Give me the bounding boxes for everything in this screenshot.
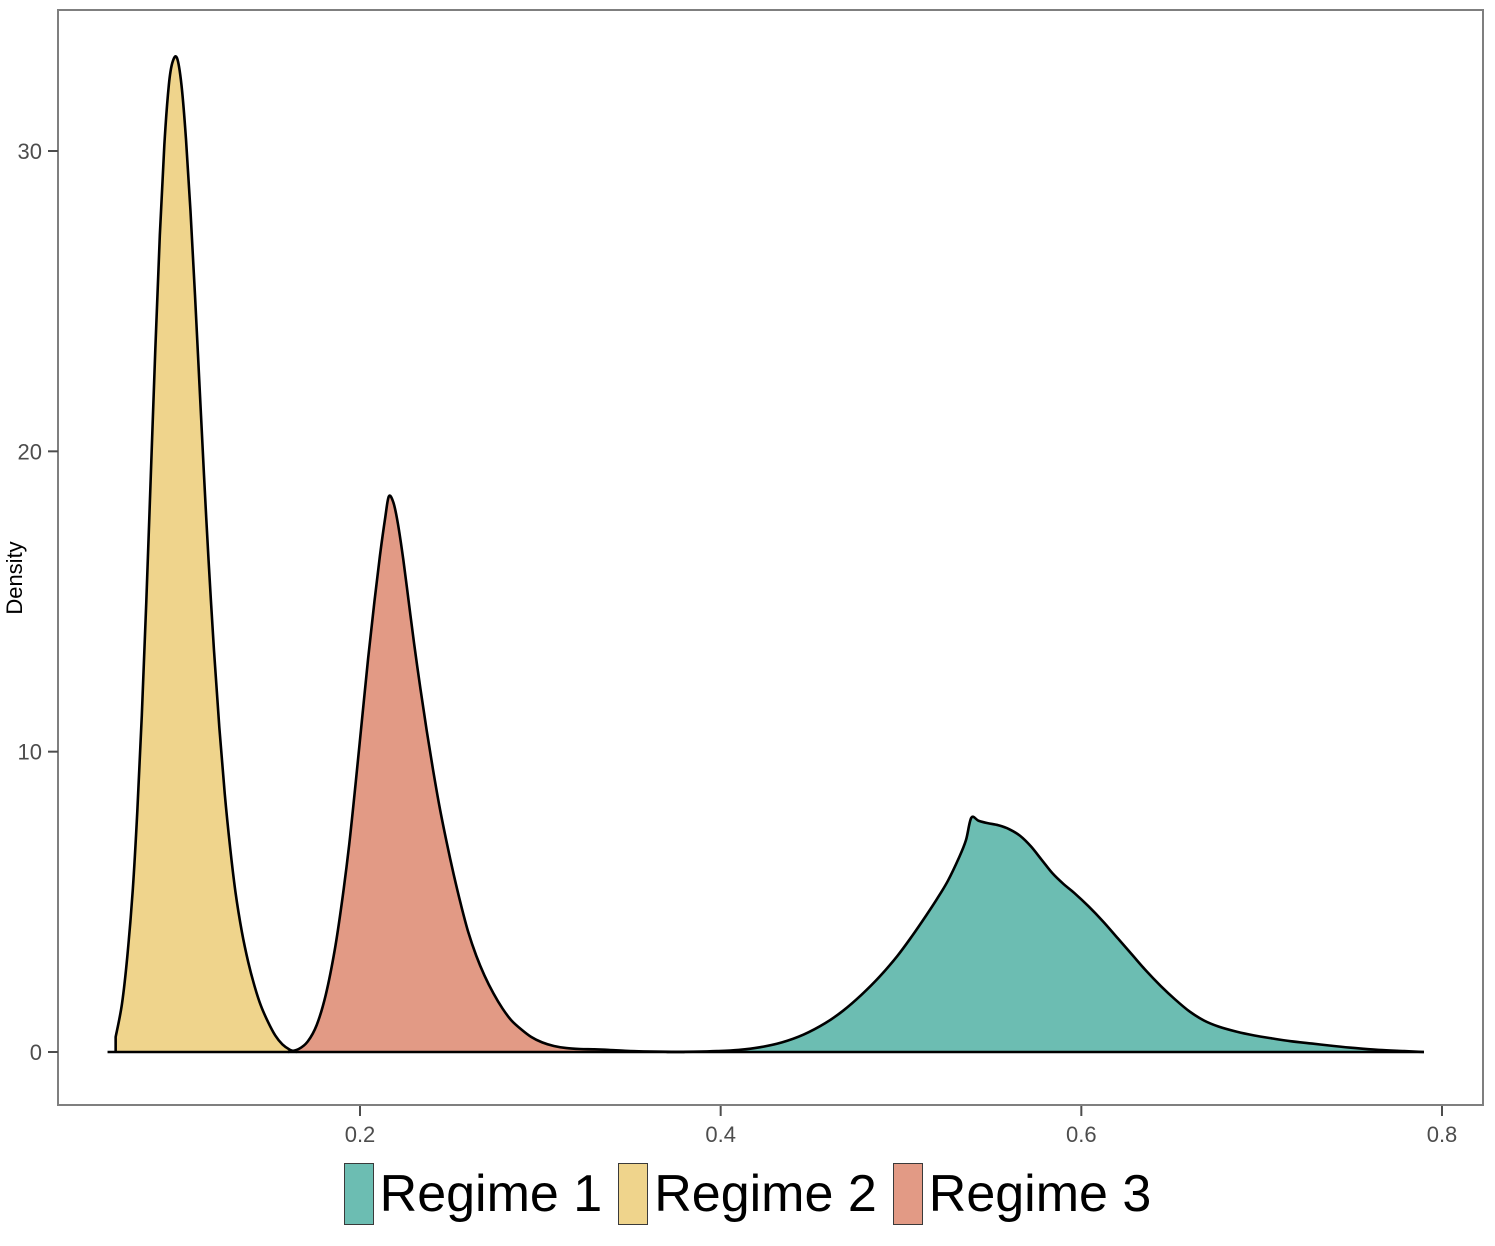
x-axis-tick-label: 0.8 <box>1427 1122 1458 1147</box>
density-plot-figure: 0.20.40.60.8 0102030 Density Regime 1 Re… <box>0 0 1495 1246</box>
legend-label: Regime 3 <box>929 1168 1152 1220</box>
legend-swatch-regime-1 <box>344 1163 374 1225</box>
chart-canvas: 0.20.40.60.8 0102030 Density <box>0 0 1495 1160</box>
legend-label: Regime 2 <box>654 1168 877 1220</box>
legend-label: Regime 1 <box>380 1168 603 1220</box>
y-axis-tick-label: 0 <box>30 1040 42 1065</box>
x-axis-tick-label: 0.6 <box>1066 1122 1097 1147</box>
legend-swatch-regime-2 <box>618 1163 648 1225</box>
panel-background <box>58 10 1483 1105</box>
x-axis: 0.20.40.60.8 <box>345 1106 1458 1147</box>
x-axis-tick-label: 0.4 <box>705 1122 736 1147</box>
y-axis-title: Density <box>2 541 27 614</box>
y-axis-tick-label: 30 <box>18 139 42 164</box>
legend-item[interactable]: Regime 3 <box>893 1163 1152 1225</box>
chart-legend: Regime 1 Regime 2 Regime 3 <box>0 1163 1495 1225</box>
y-axis-tick-label: 20 <box>18 439 42 464</box>
x-axis-tick-label: 0.2 <box>345 1122 376 1147</box>
legend-swatch-regime-3 <box>893 1163 923 1225</box>
y-axis-tick-label: 10 <box>18 740 42 765</box>
legend-item[interactable]: Regime 2 <box>618 1163 877 1225</box>
legend-item[interactable]: Regime 1 <box>344 1163 603 1225</box>
